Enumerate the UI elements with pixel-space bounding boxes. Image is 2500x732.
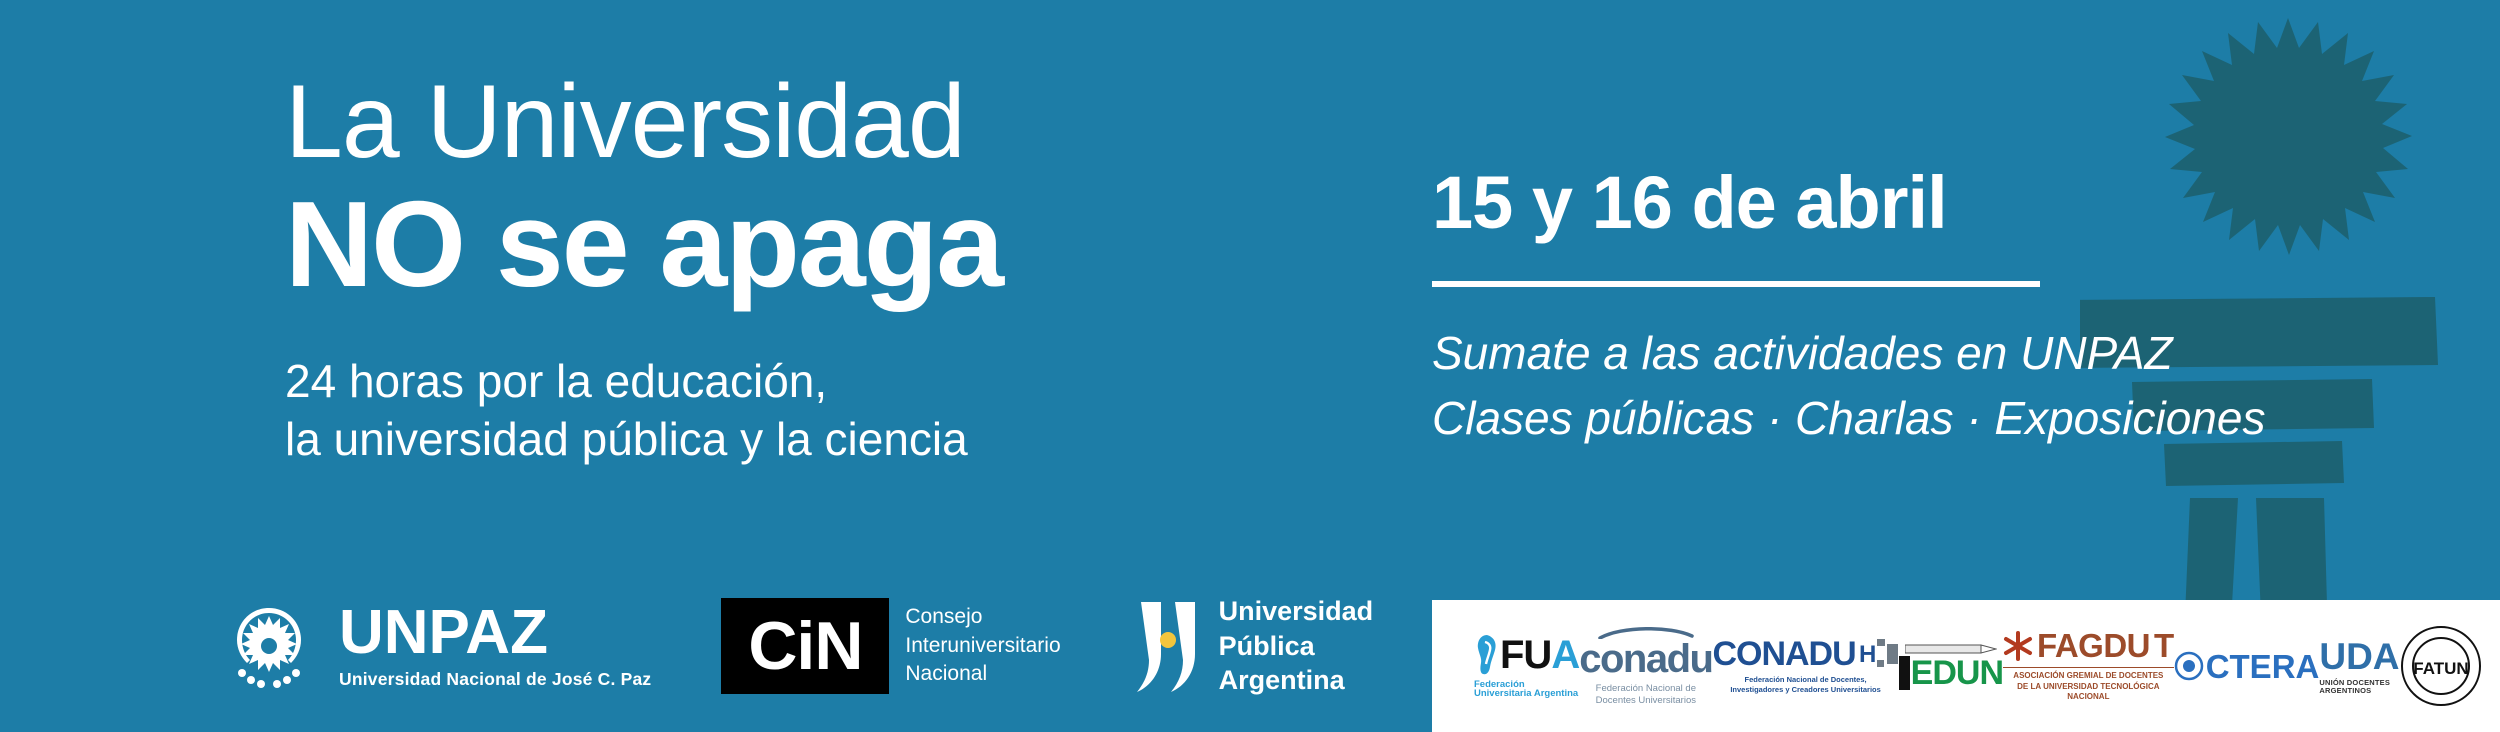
logo-cin: CiN Consejo Interuniversitario Nacional — [721, 598, 1060, 694]
upa-name: Universidad Pública Argentina — [1219, 594, 1374, 698]
subheadline-line-2: la universidad pública y la ciencia — [285, 411, 1185, 469]
svg-text:H: H — [1859, 641, 1876, 668]
uda-subtitle: UNIÓN DOCENTES ARGENTINOS — [2319, 679, 2399, 694]
asterisk-icon — [2003, 631, 2033, 661]
fedun-wordmark: EDUN — [1911, 656, 2003, 690]
partner-logo-fua: FUA Federación Universitaria Argentina — [1474, 634, 1579, 699]
upa-swoosh-icon — [1131, 598, 1203, 694]
logo-unpaz: UNPAZ Universidad Nacional de José C. Pa… — [215, 592, 651, 700]
cin-mark: CiN — [721, 598, 889, 694]
fagdut-subtitle-line-1: ASOCIACIÓN GREMIAL DE DOCENTES — [2003, 671, 2174, 681]
headline-block: La Universidad NO se apaga 24 horas por … — [285, 70, 1185, 468]
event-tagline-line-1: Sumate a las actividades en UNPAZ — [1432, 321, 2332, 386]
conadu-h-blocks-icon: H — [1859, 638, 1899, 670]
event-date: 15 y 16 de abril — [1432, 160, 2332, 245]
divider — [1432, 281, 2040, 287]
partner-logo-uda: UDA UNIÓN DOCENTES ARGENTINOS — [2319, 638, 2399, 694]
cin-name-line-2: Interuniversitario — [905, 632, 1060, 661]
fagdut-subtitle-line-2: DE LA UNIVERSIDAD TECNOLÓGICA NACIONAL — [2003, 682, 2174, 703]
upa-name-line-1: Universidad — [1219, 594, 1374, 629]
conadu-subtitle-line-1: Federación Nacional de — [1596, 683, 1696, 695]
conadu-h-subtitle-line-1: Federación Nacional de Docentes, — [1730, 675, 1880, 685]
unpaz-wordmark: UNPAZ — [339, 602, 548, 664]
conadu-h-subtitle-line-2: Investigadores y Creadores Universitario… — [1730, 685, 1880, 695]
subheadline: 24 horas por la educación, la universida… — [285, 353, 1185, 468]
partner-logo-conadu: conadu Federación Nacional de Docentes U… — [1579, 626, 1712, 707]
fatun-wordmark: FATUN — [2413, 659, 2468, 678]
logo-universidad-publica-argentina: Universidad Pública Argentina — [1131, 594, 1374, 698]
cin-name-line-3: Nacional — [905, 660, 1060, 689]
partner-logo-fedun: EDUN — [1899, 642, 2003, 690]
fagdut-wordmark: FAGDU — [2037, 629, 2150, 662]
partner-logo-ctera: CTERA — [2174, 650, 2320, 683]
argentina-map-icon — [1474, 634, 1500, 676]
fua-wordmark: FU — [1500, 635, 1551, 675]
fua-wordmark-accent: A — [1551, 635, 1579, 675]
ctera-circle-icon — [2174, 651, 2204, 681]
campaign-banner: La Universidad NO se apaga 24 horas por … — [0, 0, 2500, 732]
event-tagline-line-2: Clases públicas · Charlas · Exposiciones — [1432, 386, 2332, 451]
headline-bold: NO se apaga — [285, 180, 1185, 309]
subheadline-line-1: 24 horas por la educación, — [285, 353, 1185, 411]
partner-logo-fagdut: FAGDUT ASOCIACIÓN GREMIAL DE DOCENTES DE… — [2003, 629, 2174, 702]
event-info-block: 15 y 16 de abril Sumate a las actividade… — [1432, 160, 2332, 452]
headline-light: La Universidad — [285, 70, 1185, 174]
fagdut-wordmark-accent: T — [2154, 629, 2174, 662]
cin-name-line-1: Consejo — [905, 603, 1060, 632]
partner-logo-strip: FUA Federación Universitaria Argentina c… — [1432, 600, 2500, 732]
fua-subtitle-main: Federación Universitaria — [1474, 679, 1534, 700]
fatun-seal-icon: FATUN — [2400, 625, 2482, 707]
cin-wordmark: CiN — [748, 612, 862, 680]
upa-name-line-2: Pública — [1219, 629, 1374, 664]
upa-name-line-3: Argentina — [1219, 663, 1374, 698]
ctera-wordmark: CTERA — [2206, 650, 2320, 683]
organiser-logo-row: UNPAZ Universidad Nacional de José C. Pa… — [215, 592, 1373, 700]
partner-logo-conadu-h: CONADU H Federación Nacional de Docentes… — [1712, 637, 1898, 695]
fua-subtitle-accent: Argentina — [1534, 688, 1578, 699]
fedun-f-bar-icon — [1899, 656, 1910, 690]
conadu-subtitle-line-2: Docentes Universitarios — [1596, 695, 1696, 707]
partner-logo-fatun: FATUN — [2400, 625, 2482, 707]
sun-emblem-icon — [215, 592, 323, 700]
uda-wordmark: UDA — [2319, 638, 2399, 675]
unpaz-subtitle: Universidad Nacional de José C. Paz — [339, 669, 651, 690]
cin-name: Consejo Interuniversitario Nacional — [905, 603, 1060, 690]
conadu-wordmark: conadu — [1579, 639, 1712, 679]
event-tagline: Sumate a las actividades en UNPAZ Clases… — [1432, 321, 2332, 452]
conadu-h-wordmark: CONADU — [1712, 637, 1855, 671]
